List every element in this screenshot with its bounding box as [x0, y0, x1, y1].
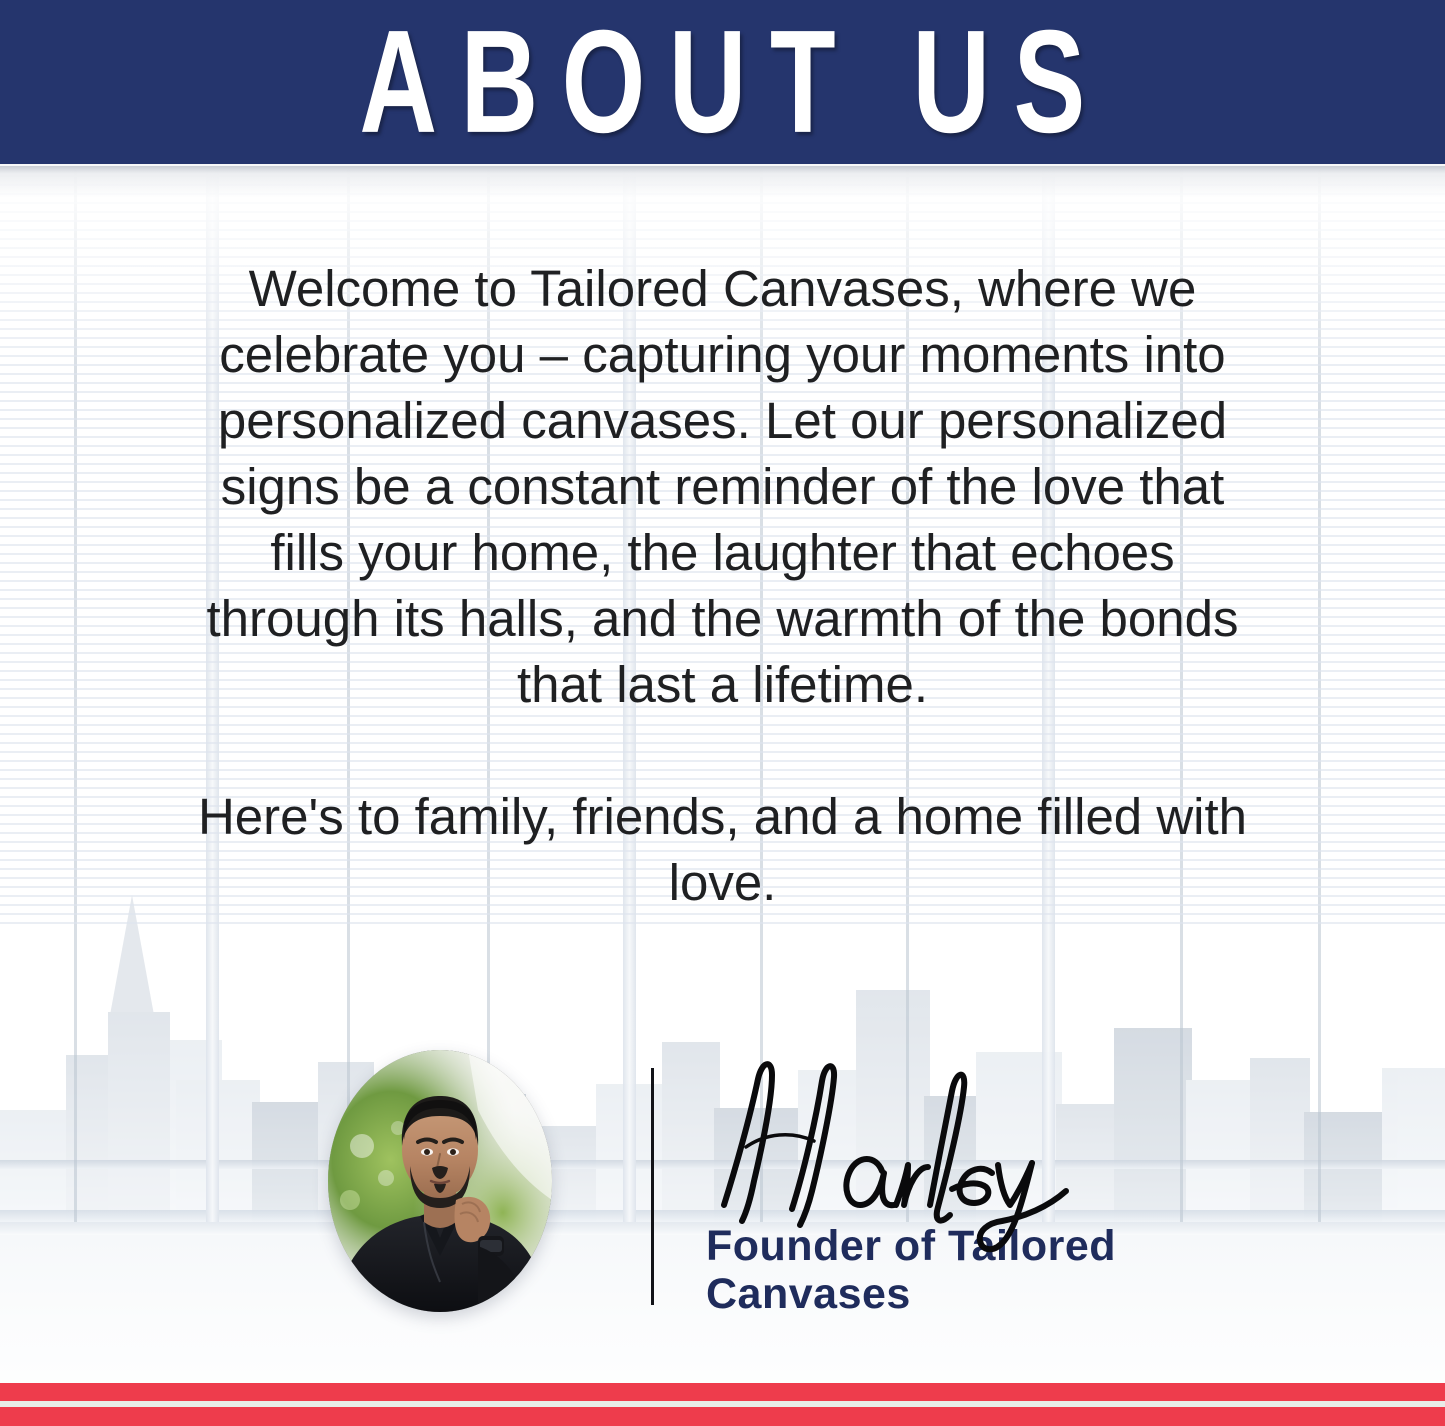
signature-divider — [651, 1068, 654, 1305]
signature-block — [680, 1055, 1180, 1315]
accent-bar-top — [0, 1383, 1445, 1401]
accent-bar-bottom — [0, 1407, 1445, 1426]
header-hairline — [0, 164, 1445, 166]
signature-script-glyph — [680, 1055, 1140, 1255]
signature-harley — [680, 1055, 1140, 1255]
header-dropshadow — [0, 164, 1445, 198]
about-paragraph-2: Here's to family, friends, and a home fi… — [180, 784, 1265, 916]
founder-avatar — [328, 1050, 552, 1312]
paragraph-spacer — [180, 718, 1265, 784]
about-us-copy: Welcome to Tailored Canvases, where we c… — [180, 256, 1265, 916]
avatar-portrait-image — [328, 1050, 552, 1312]
header-banner: ABOUT US — [0, 0, 1445, 164]
about-paragraph-1: Welcome to Tailored Canvases, where we c… — [180, 256, 1265, 718]
page-title: ABOUT US — [336, 9, 1109, 155]
about-us-card: ABOUT US Welcome to Tailored Canvases, w… — [0, 0, 1445, 1426]
